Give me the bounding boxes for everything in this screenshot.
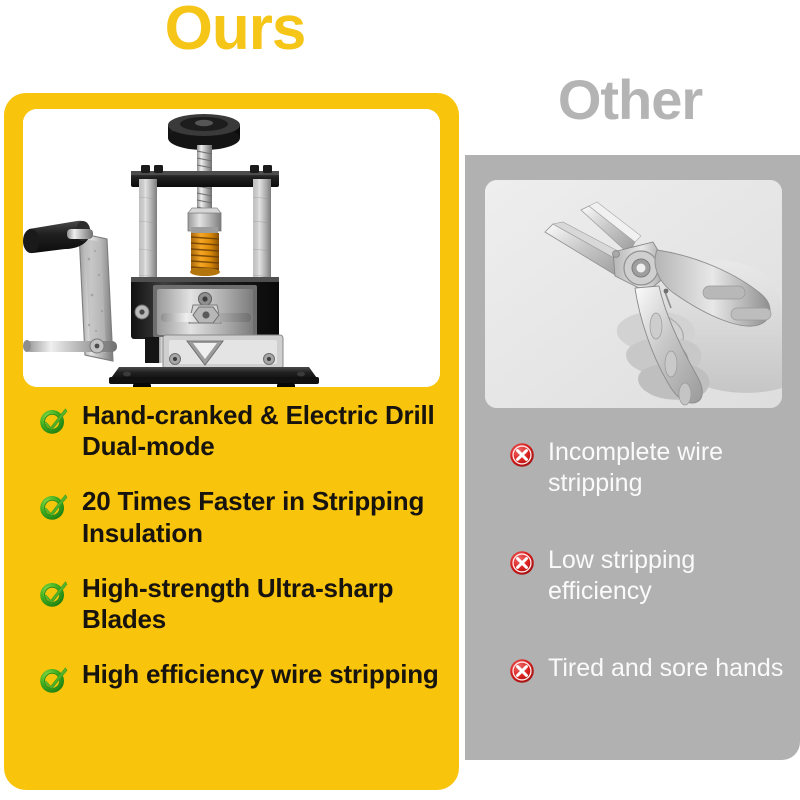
other-product-image bbox=[485, 180, 782, 408]
check-circle-icon bbox=[38, 492, 68, 522]
list-item-label: Incomplete wire stripping bbox=[548, 437, 789, 498]
ours-product-image bbox=[23, 109, 440, 387]
list-item: High-strength Ultra-sharp Blades bbox=[38, 573, 448, 635]
check-circle-icon bbox=[38, 665, 68, 695]
list-item: Incomplete wire stripping bbox=[509, 437, 789, 498]
x-circle-icon bbox=[509, 550, 535, 576]
pliers-in-hand-illustration bbox=[485, 180, 782, 408]
list-item-label: 20 Times Faster in Stripping Insulation bbox=[82, 486, 448, 548]
ours-title: Ours bbox=[0, 0, 470, 60]
other-bullet-list: Incomplete wire stripping Low stripping … bbox=[509, 437, 789, 731]
list-item-label: High efficiency wire stripping bbox=[82, 659, 439, 690]
list-item-label: Tired and sore hands bbox=[548, 653, 783, 684]
x-circle-icon bbox=[509, 658, 535, 684]
list-item-label: High-strength Ultra-sharp Blades bbox=[82, 573, 448, 635]
check-circle-icon bbox=[38, 406, 68, 436]
list-item: High efficiency wire stripping bbox=[38, 659, 448, 695]
list-item: Hand-cranked & Electric Drill Dual-mode bbox=[38, 400, 448, 462]
other-panel: Incomplete wire stripping Low stripping … bbox=[465, 155, 800, 760]
ours-panel: Hand-cranked & Electric Drill Dual-mode … bbox=[4, 93, 459, 790]
list-item: Low stripping efficiency bbox=[509, 545, 789, 606]
x-circle-icon bbox=[509, 442, 535, 468]
list-item: Tired and sore hands bbox=[509, 653, 789, 684]
wire-stripping-machine-illustration bbox=[23, 109, 440, 387]
list-item: 20 Times Faster in Stripping Insulation bbox=[38, 486, 448, 548]
ours-bullet-list: Hand-cranked & Electric Drill Dual-mode … bbox=[38, 400, 448, 719]
list-item-label: Hand-cranked & Electric Drill Dual-mode bbox=[82, 400, 448, 462]
list-item-label: Low stripping efficiency bbox=[548, 545, 789, 606]
other-title: Other bbox=[460, 72, 800, 128]
comparison-infographic: Ours Other bbox=[0, 0, 800, 800]
check-circle-icon bbox=[38, 579, 68, 609]
